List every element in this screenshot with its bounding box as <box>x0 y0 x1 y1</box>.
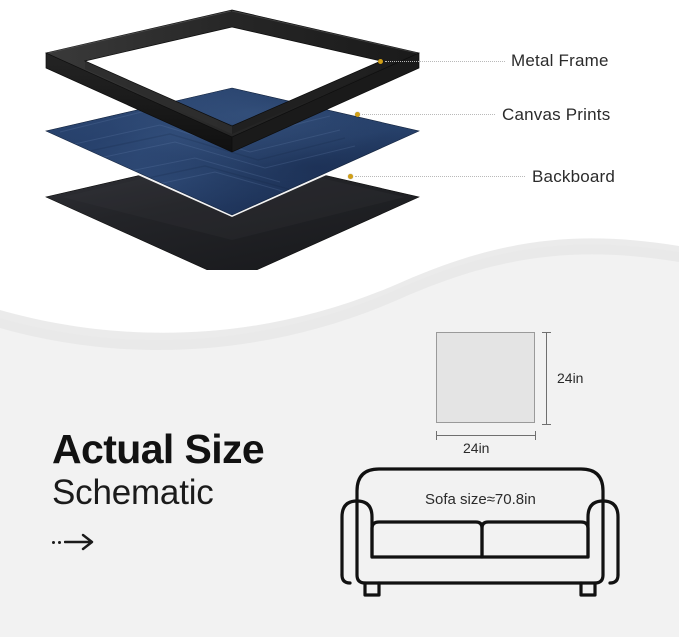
backboard-leader-line <box>355 176 525 178</box>
cue-dot-1 <box>52 541 55 544</box>
product-infographic: Metal Frame Canvas Prints Backboard Actu… <box>0 0 679 637</box>
backboard-marker-dot <box>348 174 353 179</box>
metal-frame-label: Metal Frame <box>511 51 609 71</box>
width-dimension-label: 24in <box>463 440 489 456</box>
artwork-square <box>436 332 535 423</box>
heading-primary: Actual Size <box>52 428 264 471</box>
canvas-prints-marker-dot <box>355 112 360 117</box>
actual-size-heading: Actual Size Schematic <box>52 428 264 551</box>
height-dimension-line <box>546 332 547 425</box>
sofa-size-label: Sofa size≈70.8in <box>425 491 536 508</box>
canvas-prints-leader-line <box>362 114 495 116</box>
width-dimension-line <box>436 435 536 436</box>
exploded-view <box>0 0 679 270</box>
metal-frame-marker-dot <box>378 59 383 64</box>
metal-frame-leader-line <box>385 61 505 63</box>
height-dimension-label: 24in <box>557 370 583 386</box>
heading-secondary: Schematic <box>52 473 264 513</box>
sofa-illustration <box>335 455 625 600</box>
cue-dot-2 <box>58 541 61 544</box>
right-arrow-icon <box>64 533 96 551</box>
arrow-cue-icon <box>52 533 264 551</box>
backboard-label: Backboard <box>532 167 615 187</box>
canvas-prints-label: Canvas Prints <box>502 105 610 125</box>
